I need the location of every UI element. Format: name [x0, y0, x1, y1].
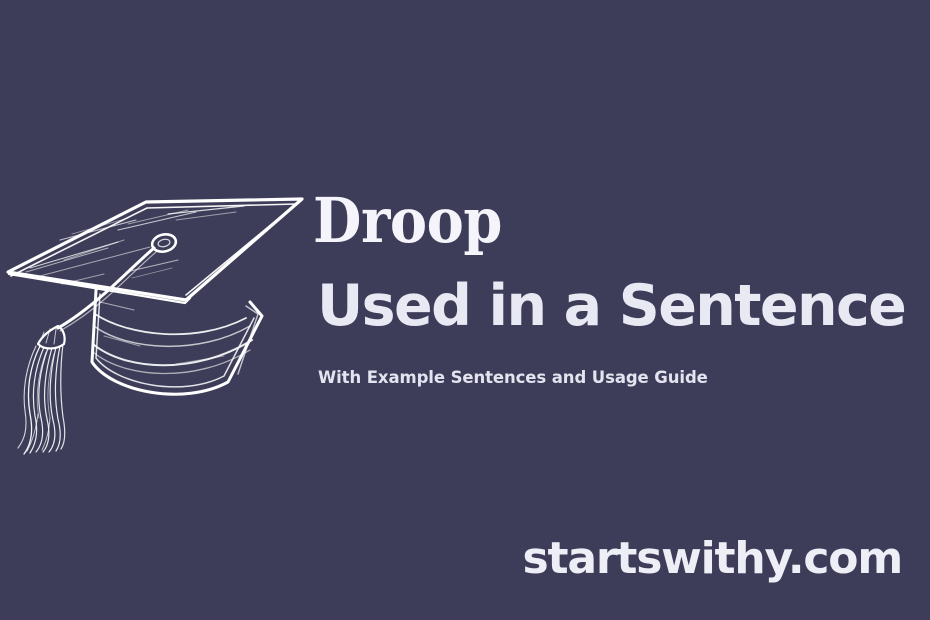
graduation-cap-icon [0, 168, 310, 458]
page-title-word: Droop [313, 190, 853, 252]
page-subtitle: With Example Sentences and Usage Guide [318, 368, 708, 387]
site-brand[interactable]: startswithy.com [523, 533, 902, 584]
hero-banner: Droop Used in a Sentence With Example Se… [0, 0, 930, 620]
page-headline: Used in a Sentence [317, 278, 905, 335]
hero-text-block: Droop Used in a Sentence With Example Se… [313, 190, 913, 252]
